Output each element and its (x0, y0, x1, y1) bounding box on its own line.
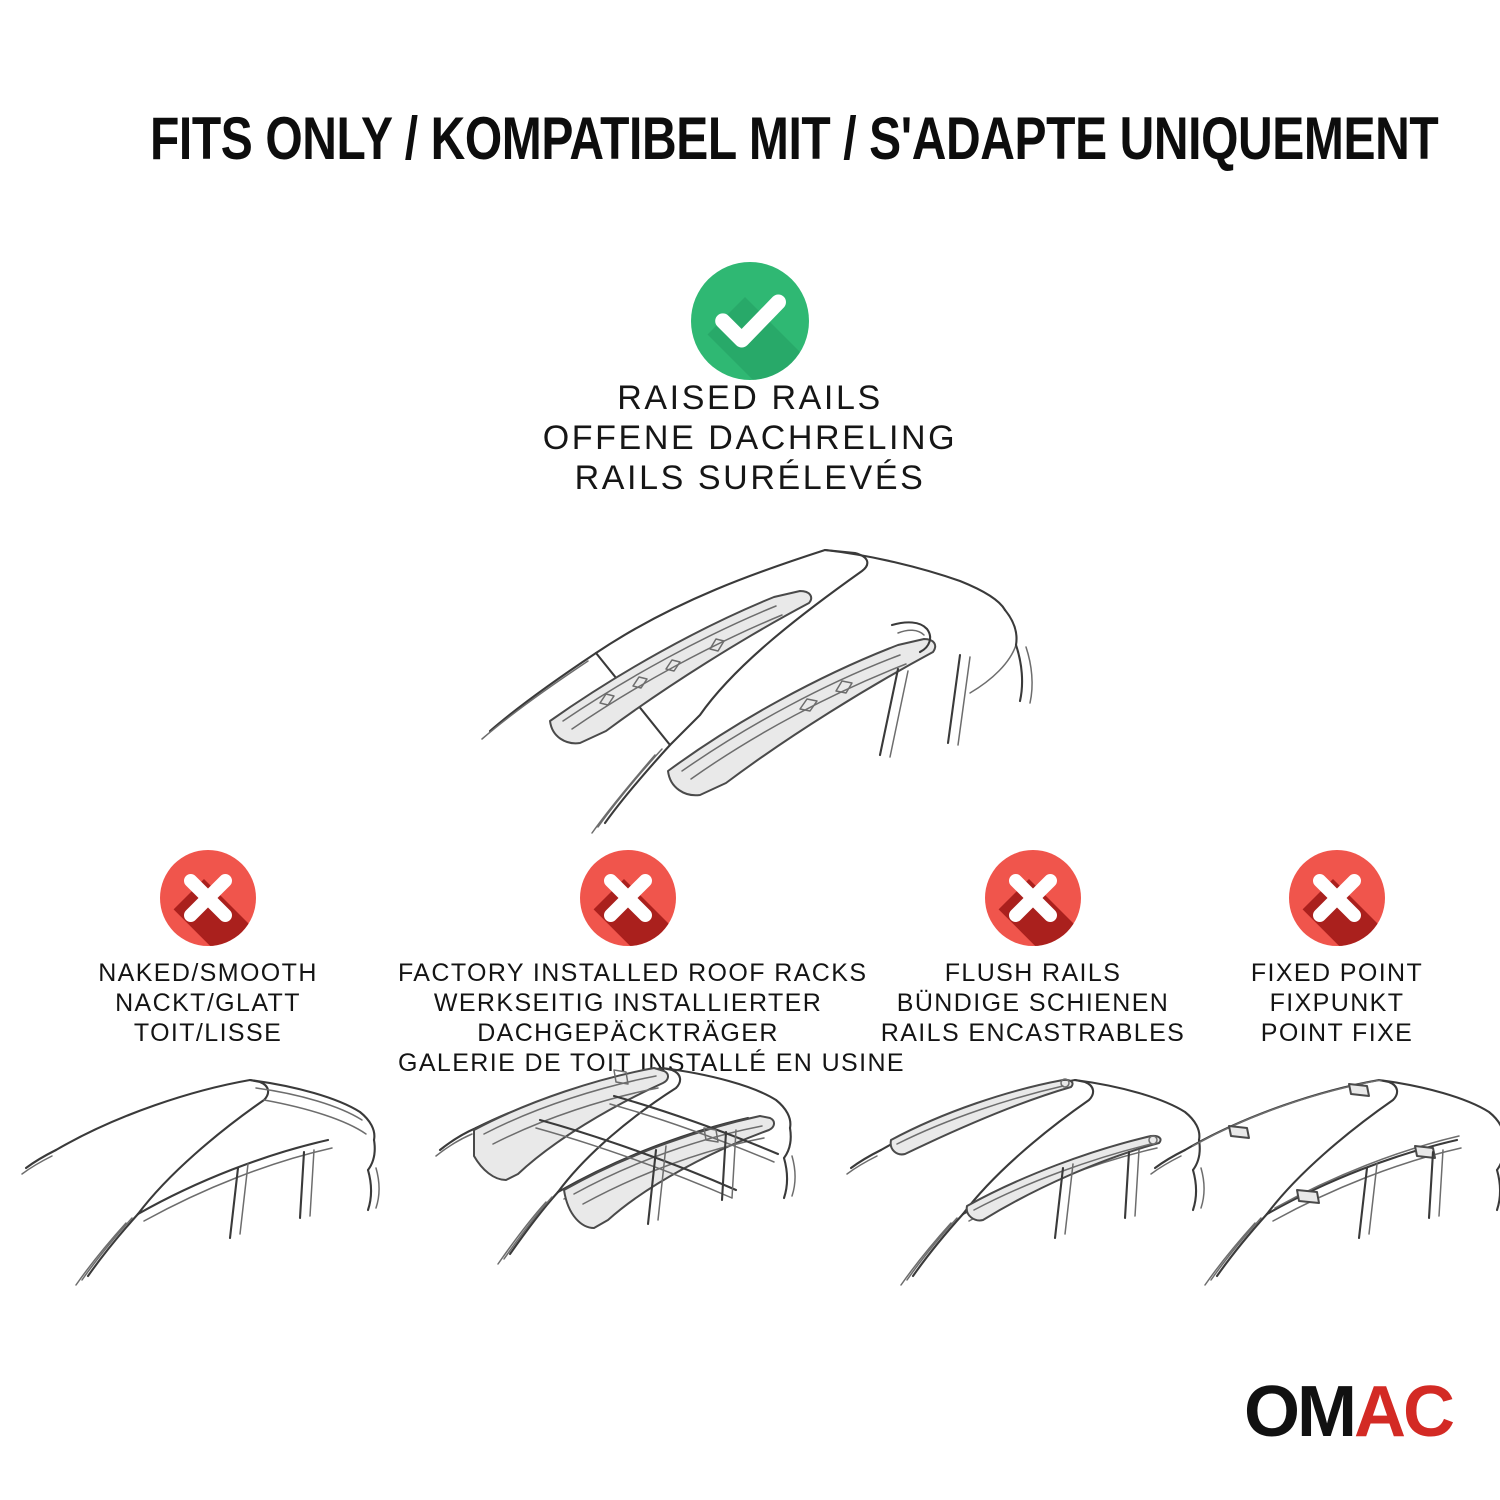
incompatible-caption-line: FIXPUNKT (1202, 988, 1472, 1018)
logo-text-dark: OM (1244, 1372, 1354, 1452)
compatible-caption-line: RAILS SURÉLEVÉS (0, 458, 1500, 498)
incompatible-caption: FLUSH RAILS BÜNDIGE SCHIENEN RAILS ENCAS… (868, 958, 1198, 1048)
incompatible-caption: NAKED/SMOOTH NACKT/GLATT TOIT/LISSE (38, 958, 378, 1048)
x-circle-icon (985, 850, 1081, 946)
compatible-caption-line: OFFENE DACHRELING (0, 418, 1500, 458)
incompatible-caption: FIXED POINT FIXPUNKT POINT FIXE (1202, 958, 1472, 1048)
x-circle-icon (160, 850, 256, 946)
car-roof-raised-rails-illustration (400, 505, 1100, 835)
incompatible-caption-line: NAKED/SMOOTH (38, 958, 378, 988)
page-title: FITS ONLY / KOMPATIBEL MIT / S'ADAPTE UN… (150, 104, 1350, 173)
incompatible-caption-line: FIXED POINT (1202, 958, 1472, 988)
x-circle-icon (1289, 850, 1385, 946)
incompatible-caption-line: POINT FIXE (1202, 1018, 1472, 1048)
incompatible-caption-line: NACKT/GLATT (38, 988, 378, 1018)
car-roof-fixed-point-illustration (1137, 1058, 1500, 1308)
incompatible-caption-line: TOIT/LISSE (38, 1018, 378, 1048)
incompatible-caption-line: FLUSH RAILS (868, 958, 1198, 988)
incompatible-caption-line: WERKSEITIG INSTALLIERTER (398, 988, 858, 1018)
incompatible-caption-line: BÜNDIGE SCHIENEN (868, 988, 1198, 1018)
check-circle-icon (691, 262, 809, 380)
compatible-caption-line: RAISED RAILS (0, 378, 1500, 418)
compatible-caption: RAISED RAILS OFFENE DACHRELING RAILS SUR… (0, 378, 1500, 498)
incompatible-caption-line: DACHGEPÄCKTRÄGER (398, 1018, 858, 1048)
incompatible-caption-line: FACTORY INSTALLED ROOF RACKS (398, 958, 858, 988)
omac-logo: OMAC (1244, 1376, 1452, 1448)
car-roof-factory-roof-racks-illustration (418, 1058, 838, 1308)
logo-text-accent: AC (1354, 1372, 1452, 1452)
x-circle-icon (580, 850, 676, 946)
incompatible-caption-line: RAILS ENCASTRABLES (868, 1018, 1198, 1048)
car-roof-naked-smooth-illustration (8, 1058, 408, 1308)
